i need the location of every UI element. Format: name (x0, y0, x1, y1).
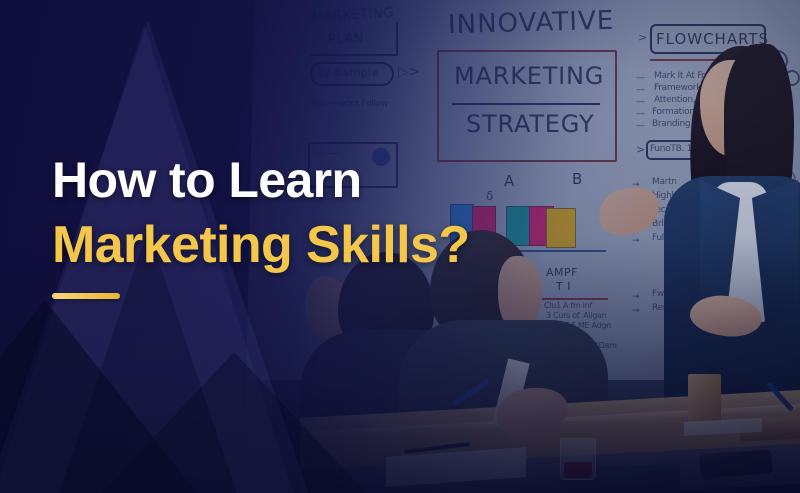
headline-underline-accent (52, 293, 120, 299)
headline-line-1: How to Learn (52, 155, 469, 205)
headline-line-2: Marketing Skills? (52, 219, 469, 271)
banner-image: MARKETING PLAN Ly Sample ▷> Frameworx Fo… (0, 0, 800, 493)
headline-block: How to Learn Marketing Skills? (52, 155, 469, 299)
